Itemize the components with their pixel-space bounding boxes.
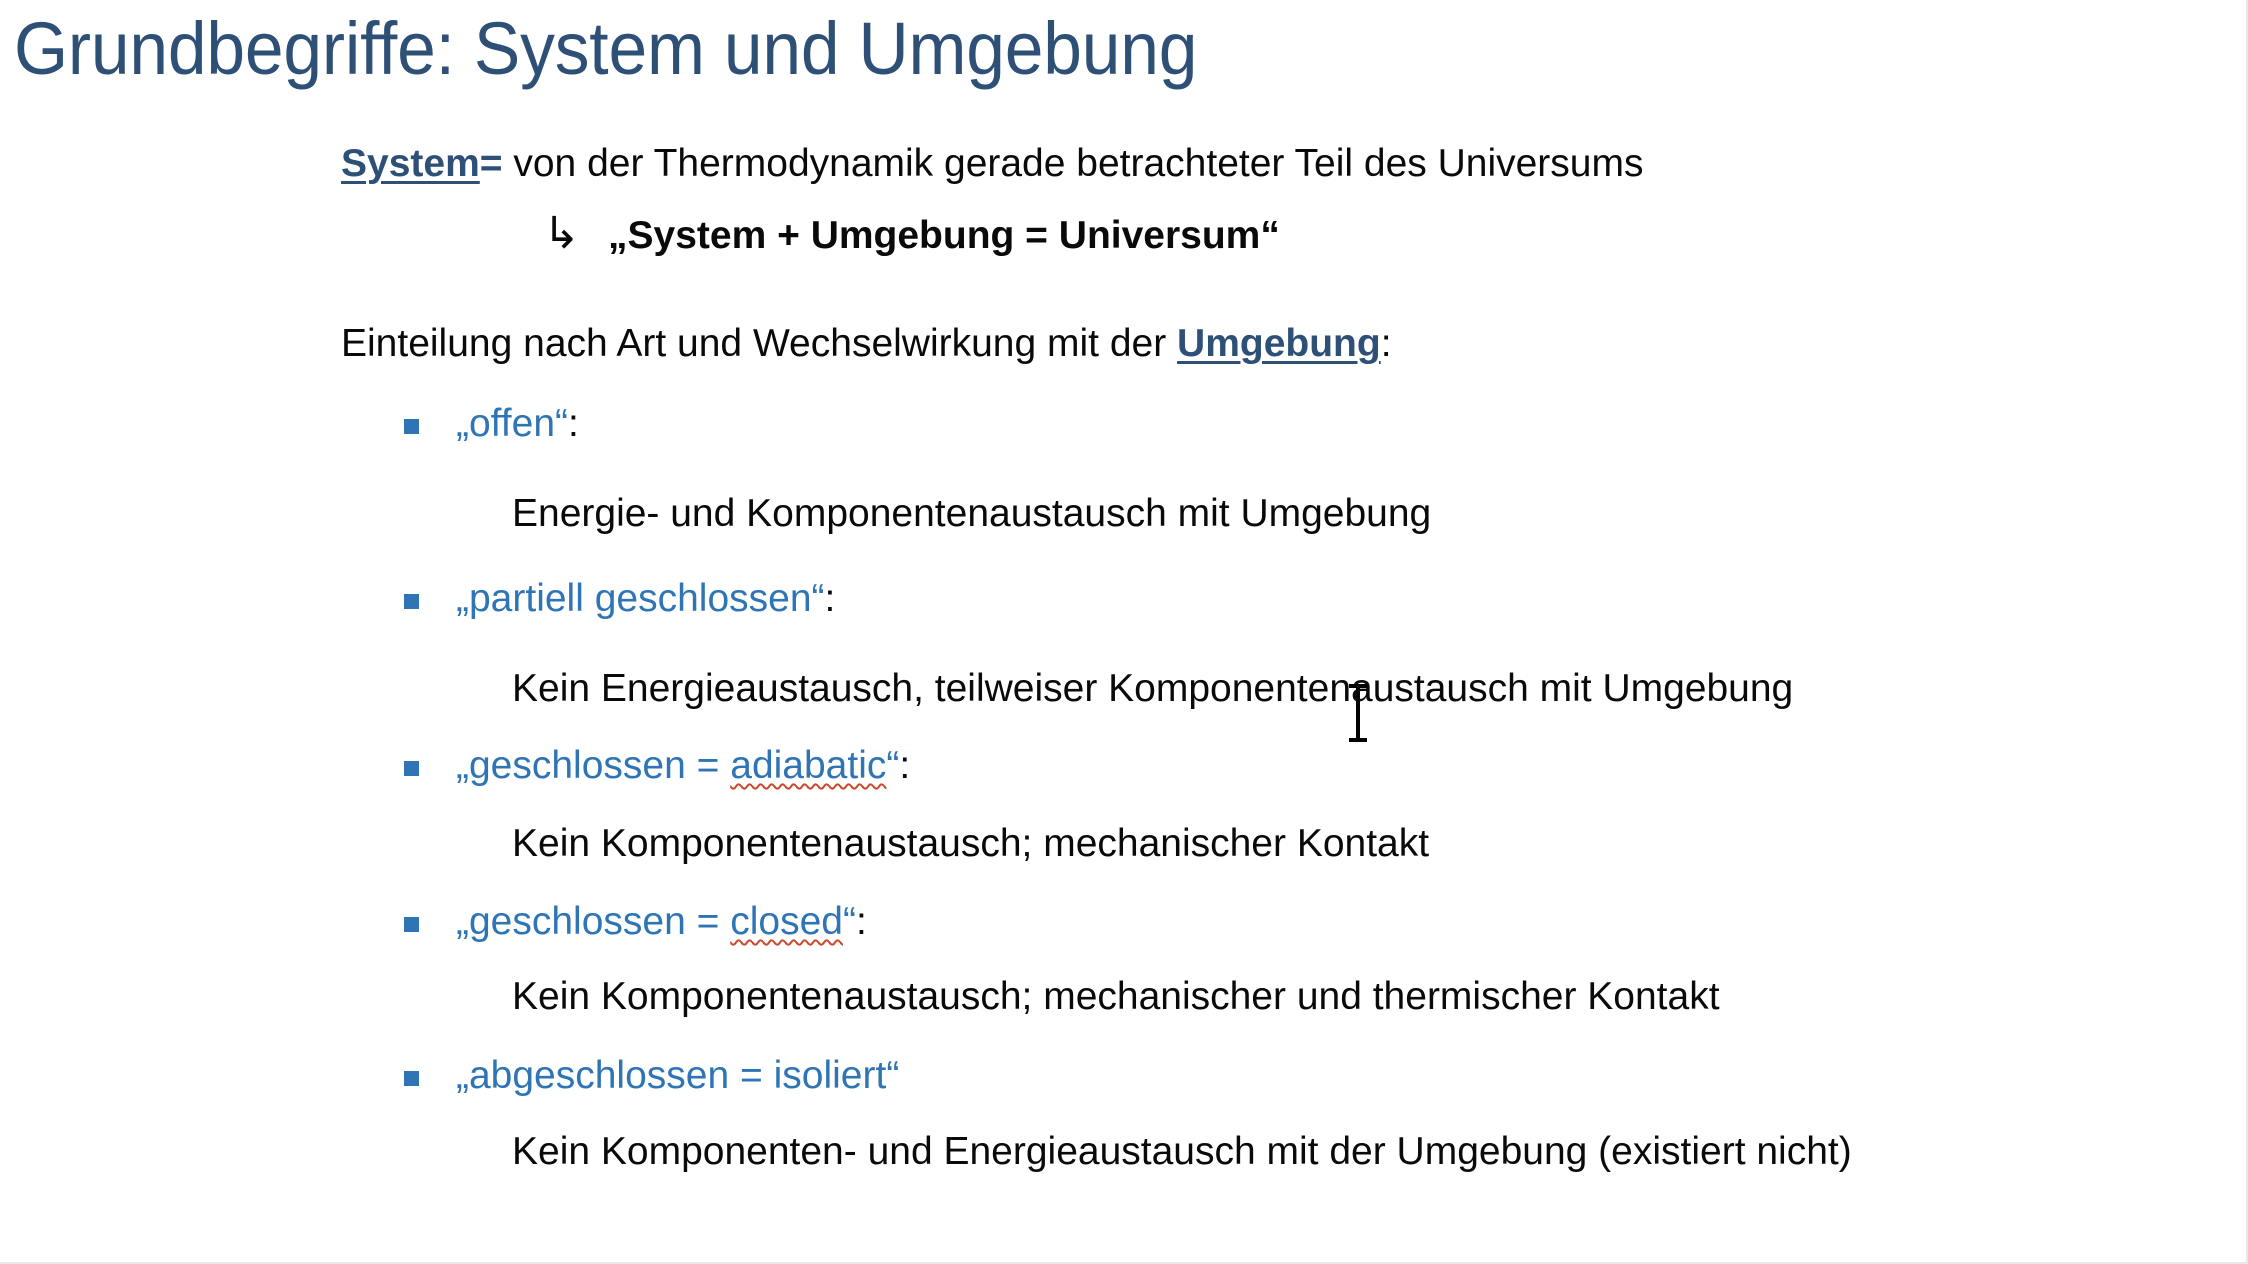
bullet-label-punct: : — [825, 577, 836, 620]
bullet-square-icon — [404, 1071, 419, 1086]
intro-prefix: Einteilung nach Art und Wechselwirkung m… — [341, 322, 1177, 365]
bullet-item-partiell-geschlossen[interactable]: „partiell geschlossen“: — [456, 579, 835, 618]
arrow-note-line[interactable]: „System + Umgebung = Universum“ — [608, 216, 1280, 255]
slide-body[interactable]: System= von der Thermodynamik gerade bet… — [0, 0, 2248, 1264]
bullet-item-geschlossen-adiabatic[interactable]: „geschlossen = adiabatic“: — [456, 746, 910, 785]
definition-term: System — [341, 142, 480, 185]
bullet-description-offen[interactable]: Energie- und Komponentenaustausch mit Um… — [512, 494, 1431, 533]
definition-equals: = — [480, 142, 503, 185]
definition-line[interactable]: System= von der Thermodynamik gerade bet… — [341, 144, 1643, 183]
bullet-label-misspelled: adiabatic — [730, 744, 886, 787]
bullet-square-icon — [404, 594, 419, 609]
bullet-description-partiell-geschlossen[interactable]: Kein Energieaustausch, teilweiser Kompon… — [512, 669, 1793, 708]
bullet-label-normal: „partiell geschlossen“ — [456, 577, 825, 620]
bullet-description-abgeschlossen-isoliert[interactable]: Kein Komponenten- und Energieaustausch m… — [512, 1132, 1852, 1171]
bullet-label-tail: “ — [886, 744, 899, 787]
intro-keyword: Umgebung — [1177, 322, 1381, 365]
arrow-note-text: „System + Umgebung = Universum“ — [608, 214, 1280, 257]
corner-arrow-icon: ↳ — [543, 212, 580, 256]
intro-line[interactable]: Einteilung nach Art und Wechselwirkung m… — [341, 324, 1392, 363]
bullet-description-geschlossen-adiabatic[interactable]: Kein Komponentenaustausch; mechanischer … — [512, 824, 1429, 863]
bullet-item-offen[interactable]: „offen“: — [456, 404, 579, 443]
bullet-square-icon — [404, 419, 419, 434]
intro-suffix: : — [1381, 322, 1392, 365]
bullet-label-misspelled: closed — [730, 900, 843, 943]
bullet-label-normal: „geschlossen = — [456, 744, 730, 787]
bullet-label-normal: „offen“ — [456, 402, 568, 445]
bullet-square-icon — [404, 761, 419, 776]
bullet-item-geschlossen-closed[interactable]: „geschlossen = closed“: — [456, 902, 867, 941]
bullet-label-tail: “ — [843, 900, 856, 943]
bullet-label-normal: „geschlossen = — [456, 900, 730, 943]
definition-text: von der Thermodynamik gerade betrachtete… — [503, 142, 1644, 185]
bullet-label-punct: : — [856, 900, 867, 943]
bullet-item-abgeschlossen-isoliert[interactable]: „abgeschlossen = isoliert“ — [456, 1056, 899, 1095]
bullet-description-geschlossen-closed[interactable]: Kein Komponentenaustausch; mechanischer … — [512, 977, 1720, 1016]
bullet-label-punct: : — [899, 744, 910, 787]
bullet-label-punct: : — [568, 402, 579, 445]
presentation-slide[interactable]: Grundbegriffe: System und Umgebung Syste… — [0, 0, 2248, 1264]
bullet-square-icon — [404, 917, 419, 932]
bullet-label-normal: „abgeschlossen = isoliert“ — [456, 1054, 899, 1097]
